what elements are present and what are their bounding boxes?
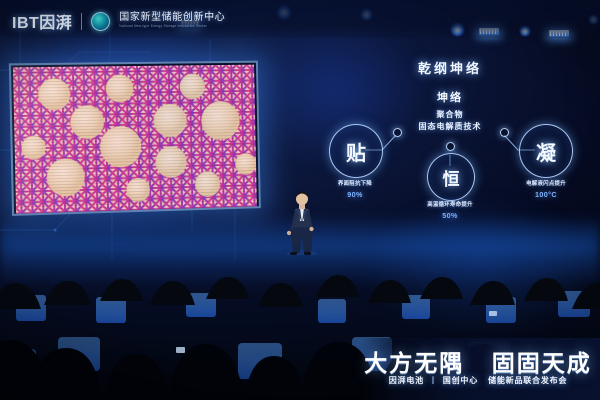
event-banner-headline: 大方无隅 固固天成	[362, 344, 594, 378]
subtitle-mid: 国创中心	[443, 376, 478, 385]
headline-left: 大方无隅	[364, 351, 464, 376]
event-banner-subtitle: 因湃电池 丨 国创中心 储能新品联合发布会	[362, 375, 594, 386]
subtitle-right: 储能新品联合发布会	[488, 376, 567, 385]
event-photo: IBT因湃 国家新型储能创新中心 National New-type Energ…	[0, 0, 600, 400]
subtitle-left: 因湃电池	[389, 376, 424, 385]
event-banner: 大方无隅 固固天成 因湃电池 丨 国创中心 储能新品联合发布会	[362, 338, 600, 400]
subtitle-separator: 丨	[429, 376, 438, 385]
headline-right: 固固天成	[492, 351, 592, 376]
